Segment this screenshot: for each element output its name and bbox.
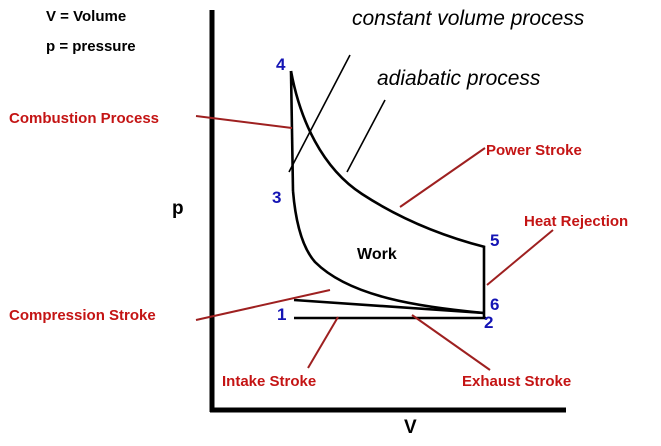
curve-power-stroke-4-5 bbox=[291, 71, 485, 247]
label-constant-volume-process: constant volume process bbox=[352, 8, 584, 29]
annotation-compression-stroke: Compression Stroke bbox=[9, 308, 156, 323]
state-point-6: 6 bbox=[490, 296, 499, 313]
x-axis-label: V bbox=[404, 418, 417, 437]
leader-adiabatic bbox=[347, 100, 385, 172]
y-axis-label: p bbox=[172, 199, 184, 218]
state-point-5: 5 bbox=[490, 232, 499, 249]
legend-volume: V = Volume bbox=[46, 9, 126, 24]
pv-diagram-figure: V = Volume p = pressure p V constant vol… bbox=[0, 0, 661, 446]
annotation-heat-rejection: Heat Rejection bbox=[524, 214, 628, 229]
state-point-4: 4 bbox=[276, 56, 285, 73]
annotation-intake-stroke: Intake Stroke bbox=[222, 374, 316, 389]
state-point-3: 3 bbox=[272, 189, 281, 206]
legend-pressure: p = pressure bbox=[46, 39, 136, 54]
leader-exhaust-stroke bbox=[412, 315, 490, 370]
leader-constant-volume bbox=[289, 55, 350, 172]
label-work-area: Work bbox=[357, 247, 397, 263]
label-adiabatic-process: adiabatic process bbox=[377, 68, 540, 89]
state-point-1: 1 bbox=[277, 306, 286, 323]
state-point-2: 2 bbox=[484, 314, 493, 331]
leader-intake-stroke bbox=[308, 317, 338, 368]
curve-combustion-3-4 bbox=[291, 71, 293, 191]
annotation-power-stroke: Power Stroke bbox=[486, 143, 582, 158]
leader-power-stroke bbox=[400, 148, 485, 207]
leader-compression-stroke bbox=[196, 290, 330, 320]
annotation-exhaust-stroke: Exhaust Stroke bbox=[462, 374, 571, 389]
annotation-combustion-process: Combustion Process bbox=[9, 111, 159, 126]
